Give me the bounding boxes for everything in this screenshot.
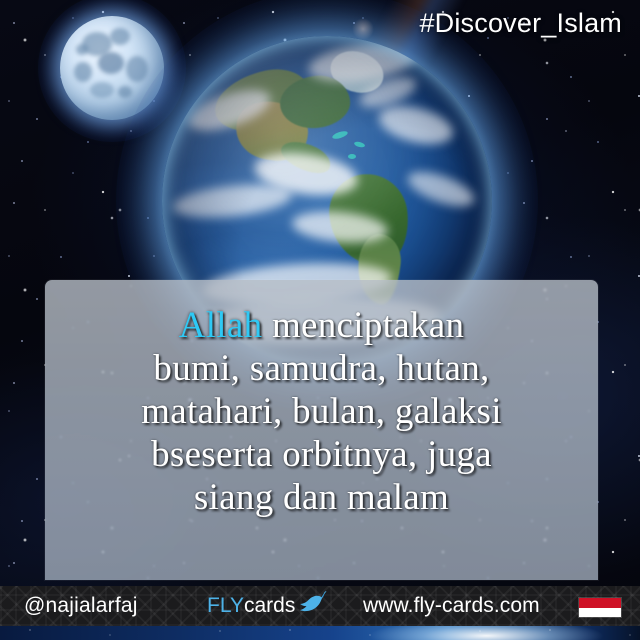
flycards-logo-fly: FLY — [207, 594, 244, 618]
moon-crater — [110, 28, 130, 45]
bird-icon — [299, 590, 329, 622]
flycards-logo-cards: cards — [244, 594, 295, 618]
website-url[interactable]: www.fly-cards.com — [363, 586, 540, 626]
quote-panel: Allah menciptakan bumi, samudra, hutan, … — [45, 280, 598, 580]
moon-crater — [126, 56, 148, 82]
flycards-logo[interactable]: FLYcards — [207, 586, 329, 626]
bottom-accent-strip — [0, 626, 640, 640]
quote-line-3: matahari, bulan, galaksi — [59, 390, 584, 433]
moon-crater — [118, 86, 132, 98]
moon-crater — [90, 82, 114, 98]
quote-highlight-word: Allah — [179, 305, 263, 346]
social-handle[interactable]: @najialarfaj — [24, 586, 138, 626]
footer-bar: @najialarfaj FLYcards www.fly-cards.com — [0, 586, 640, 626]
quote-line-4: bseserta orbitnya, juga — [59, 433, 584, 476]
quote-text: Allah menciptakan bumi, samudra, hutan, … — [45, 304, 598, 519]
quote-line-1: Allah menciptakan — [59, 304, 584, 347]
moon-crater — [76, 44, 88, 55]
flag-stripe-white — [579, 608, 621, 618]
hashtag-label: #Discover_Islam — [419, 8, 622, 39]
quote-line-1-rest: menciptakan — [262, 305, 464, 346]
discover-islam-card: #Discover_Islam Allah menciptakan bumi, … — [0, 0, 640, 640]
moon-crater — [74, 62, 92, 82]
indonesia-flag-icon — [578, 597, 622, 618]
flag-stripe-red — [579, 598, 621, 608]
quote-line-5: siang dan malam — [59, 476, 584, 519]
moon-crater — [98, 52, 124, 74]
bottom-strip-sparkles — [0, 626, 640, 640]
quote-line-2: bumi, samudra, hutan, — [59, 347, 584, 390]
